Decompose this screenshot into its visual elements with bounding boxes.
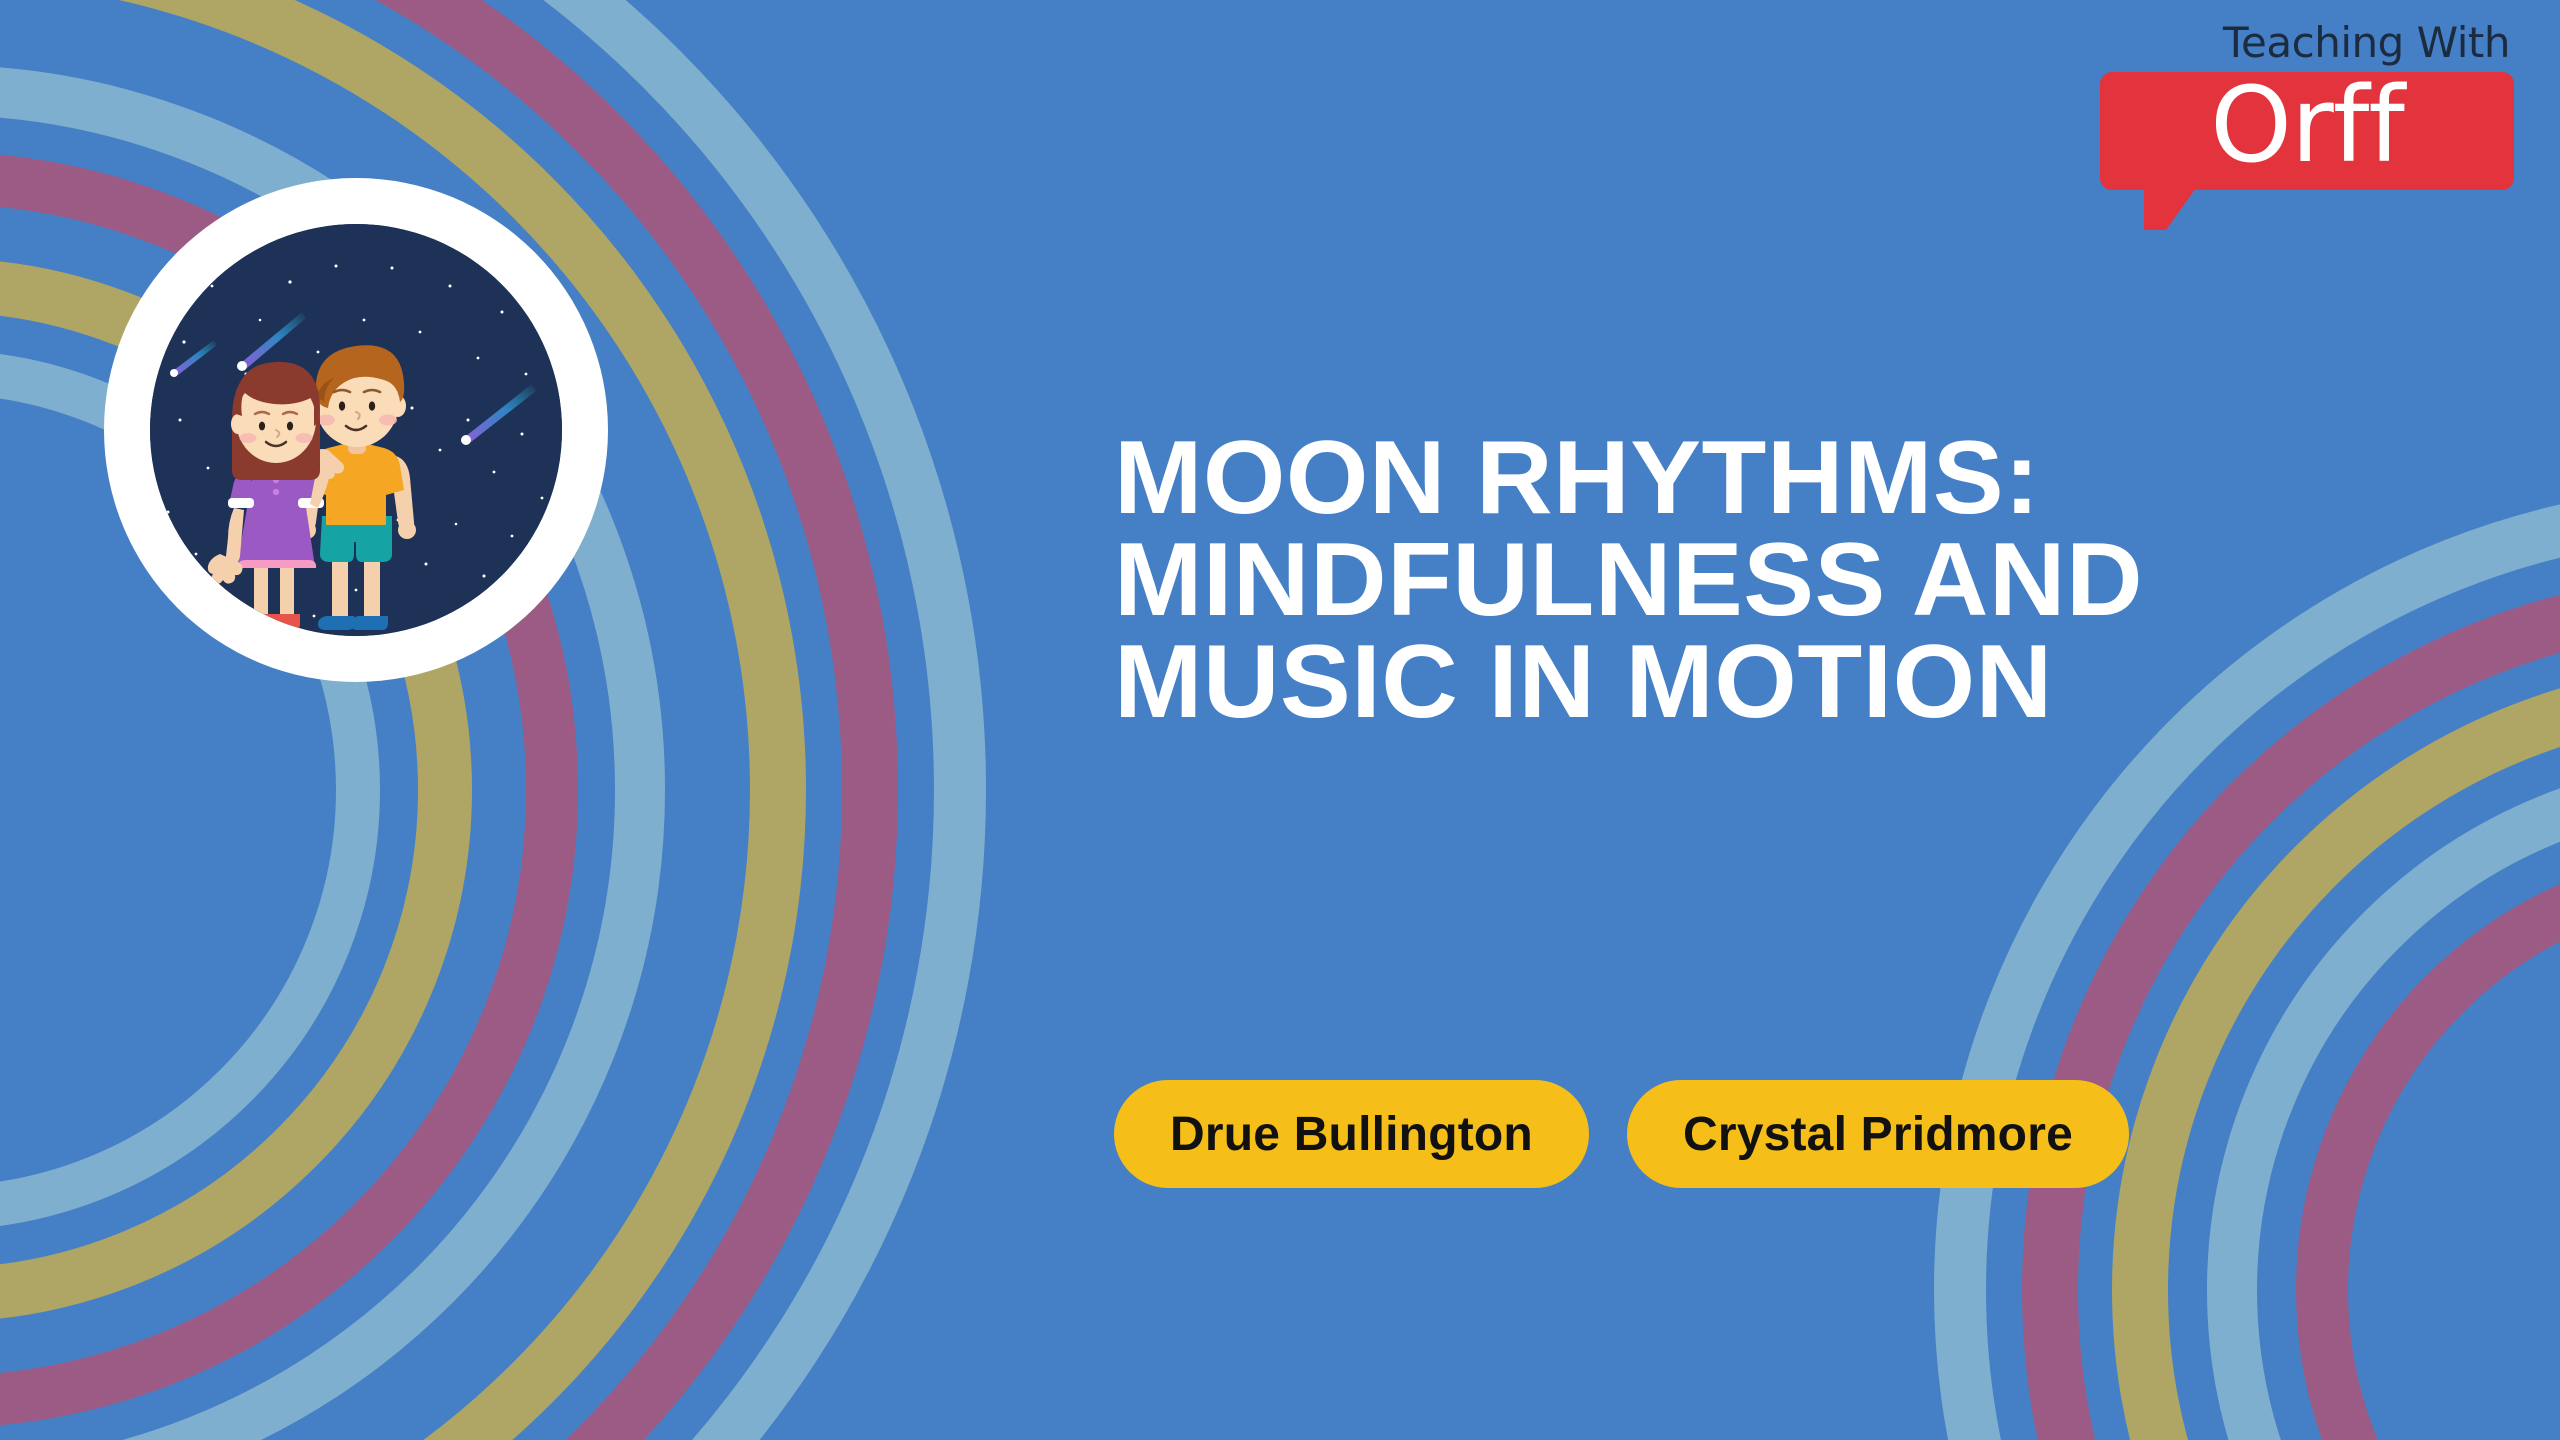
- night-sky-scene: [150, 224, 562, 636]
- logo-tagline: Teaching With: [2100, 22, 2510, 64]
- logo-bubble-body: Orff: [2100, 72, 2514, 190]
- logo-wordmark: Orff: [2210, 73, 2404, 177]
- speaker-pill[interactable]: Crystal Pridmore: [1627, 1080, 2129, 1188]
- page-title: MOON RHYTHMS: MINDFULNESS AND MUSIC IN M…: [1114, 428, 2481, 734]
- brand-logo[interactable]: Teaching With Orff: [2100, 22, 2514, 190]
- banner-canvas: Teaching With Orff MOON RHYTHMS: MINDFUL…: [0, 0, 2560, 1440]
- logo-bubble-tail: [2144, 188, 2196, 230]
- speaker-pill[interactable]: Drue Bullington: [1114, 1080, 1589, 1188]
- logo-speech-bubble-icon: Orff: [2100, 72, 2514, 190]
- illustration-medallion: [104, 178, 608, 682]
- speaker-list: Drue Bullington Crystal Pridmore: [1114, 1080, 2129, 1188]
